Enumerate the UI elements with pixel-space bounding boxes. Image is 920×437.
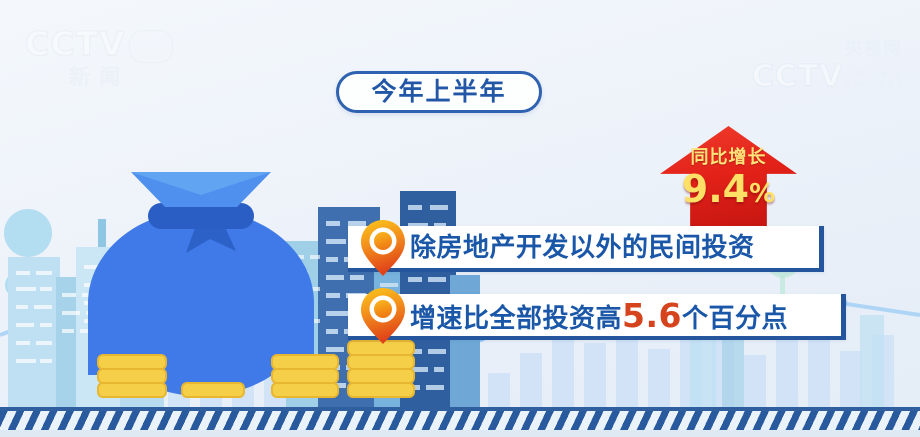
cctv-wordmark: CCTV: [25, 24, 126, 63]
growth-badge: 同比增长 9.4%: [660, 126, 797, 230]
info-bar-2: 增速比全部投资高5.6个百分点: [348, 294, 846, 340]
cctv-com-cn-label: 央视网: [845, 39, 902, 58]
info-bar-2-highlight: 5.6: [622, 296, 682, 335]
cctv-com-domain: .com: [843, 62, 902, 92]
growth-value-unit: %: [749, 179, 775, 209]
channel-number: 13: [129, 30, 174, 63]
channel-name-cn: 新闻: [25, 61, 173, 91]
page-title-label: 今年上半年: [371, 80, 506, 105]
info-bar-2-text: 增速比全部投资高5.6个百分点: [410, 299, 788, 332]
growth-value-number: 9.4: [682, 167, 749, 211]
info-bar-1: 除房地产开发以外的民间投资: [348, 226, 824, 272]
info-bar-1-text: 除房地产开发以外的民间投资: [410, 234, 755, 260]
location-pin-icon: [360, 287, 406, 345]
cctv-com-watermark: 央视网 CCTV.com: [752, 34, 902, 94]
stripe-base-line: [0, 430, 920, 437]
info-bar-2-suffix: 个百分点: [682, 303, 788, 333]
growth-badge-label: 同比增长: [691, 148, 767, 166]
cctv13-watermark: CCTV13 新闻: [25, 24, 173, 91]
page-title: 今年上半年: [336, 71, 542, 113]
growth-badge-value: 9.4%: [682, 170, 775, 208]
info-bar-2-prefix: 增速比全部投资高: [410, 303, 622, 333]
infographic-canvas: CCTV13 新闻 央视网 CCTV.com 今年上半年 同比增长 9.4% 除…: [0, 0, 920, 437]
location-pin-icon: [360, 219, 406, 277]
cctv-com-wordmark: CCTV: [752, 59, 844, 94]
